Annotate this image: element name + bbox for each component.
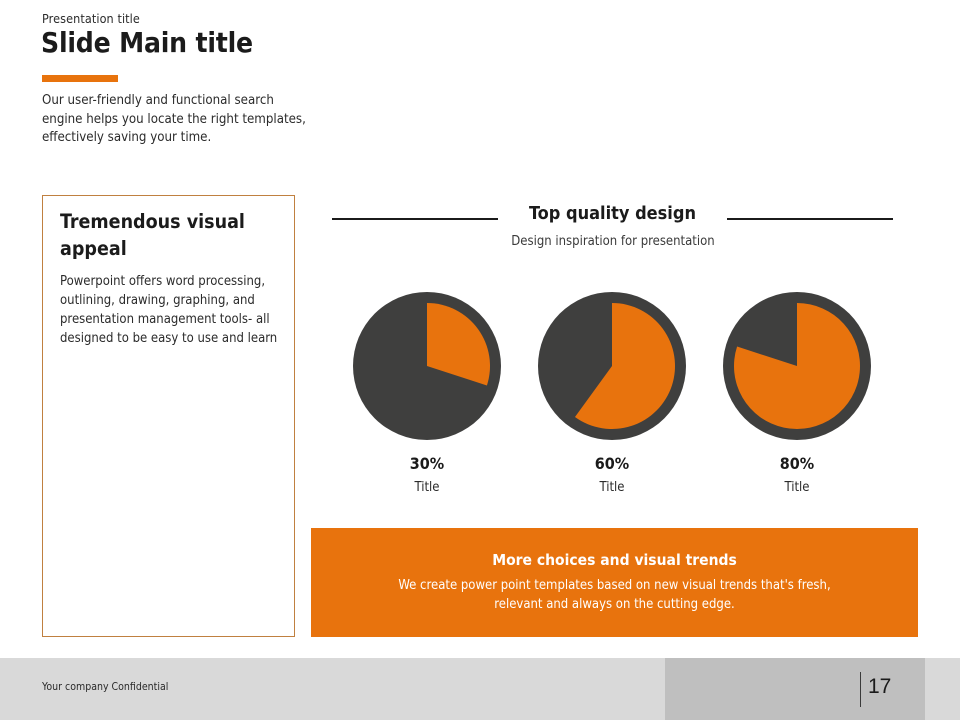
callout-banner-body: We create power point templates based on… <box>384 576 845 614</box>
pie-3-percent: 80% <box>722 454 872 473</box>
feature-card: Tremendous visual appeal Powerpoint offe… <box>42 195 295 637</box>
pie-chart-1-graphic <box>352 291 502 441</box>
pie-3-label: Title <box>722 480 872 495</box>
footer-divider <box>860 672 861 707</box>
slide: Presentation title Slide Main title Our … <box>0 0 960 720</box>
pie-2-label: Title <box>537 480 687 495</box>
pie-chart-3 <box>722 291 872 441</box>
pie-chart-1 <box>352 291 502 441</box>
callout-banner: More choices and visual trends We create… <box>311 528 918 637</box>
accent-bar <box>42 75 118 82</box>
feature-card-body: Powerpoint offers word processing, outli… <box>60 272 278 348</box>
pie-chart-2-graphic <box>537 291 687 441</box>
section-subtitle: Design inspiration for presentation <box>463 234 763 249</box>
page-title: Slide Main title <box>41 26 253 59</box>
heading-rule-right <box>727 218 893 220</box>
intro-paragraph: Our user-friendly and functional search … <box>42 92 310 148</box>
callout-banner-title: More choices and visual trends <box>311 551 918 569</box>
page-number: 17 <box>868 675 908 699</box>
feature-card-title: Tremendous visual appeal <box>60 208 275 262</box>
pie-1-percent: 30% <box>352 454 502 473</box>
pie-1-label: Title <box>352 480 502 495</box>
presentation-title-eyebrow: Presentation title <box>42 11 140 26</box>
pie-chart-3-graphic <box>722 291 872 441</box>
section-title: Top quality design <box>505 203 720 224</box>
pie-2-percent: 60% <box>537 454 687 473</box>
heading-rule-left <box>332 218 498 220</box>
pie-chart-2 <box>537 291 687 441</box>
footer-confidential-note: Your company Confidential <box>42 681 168 693</box>
